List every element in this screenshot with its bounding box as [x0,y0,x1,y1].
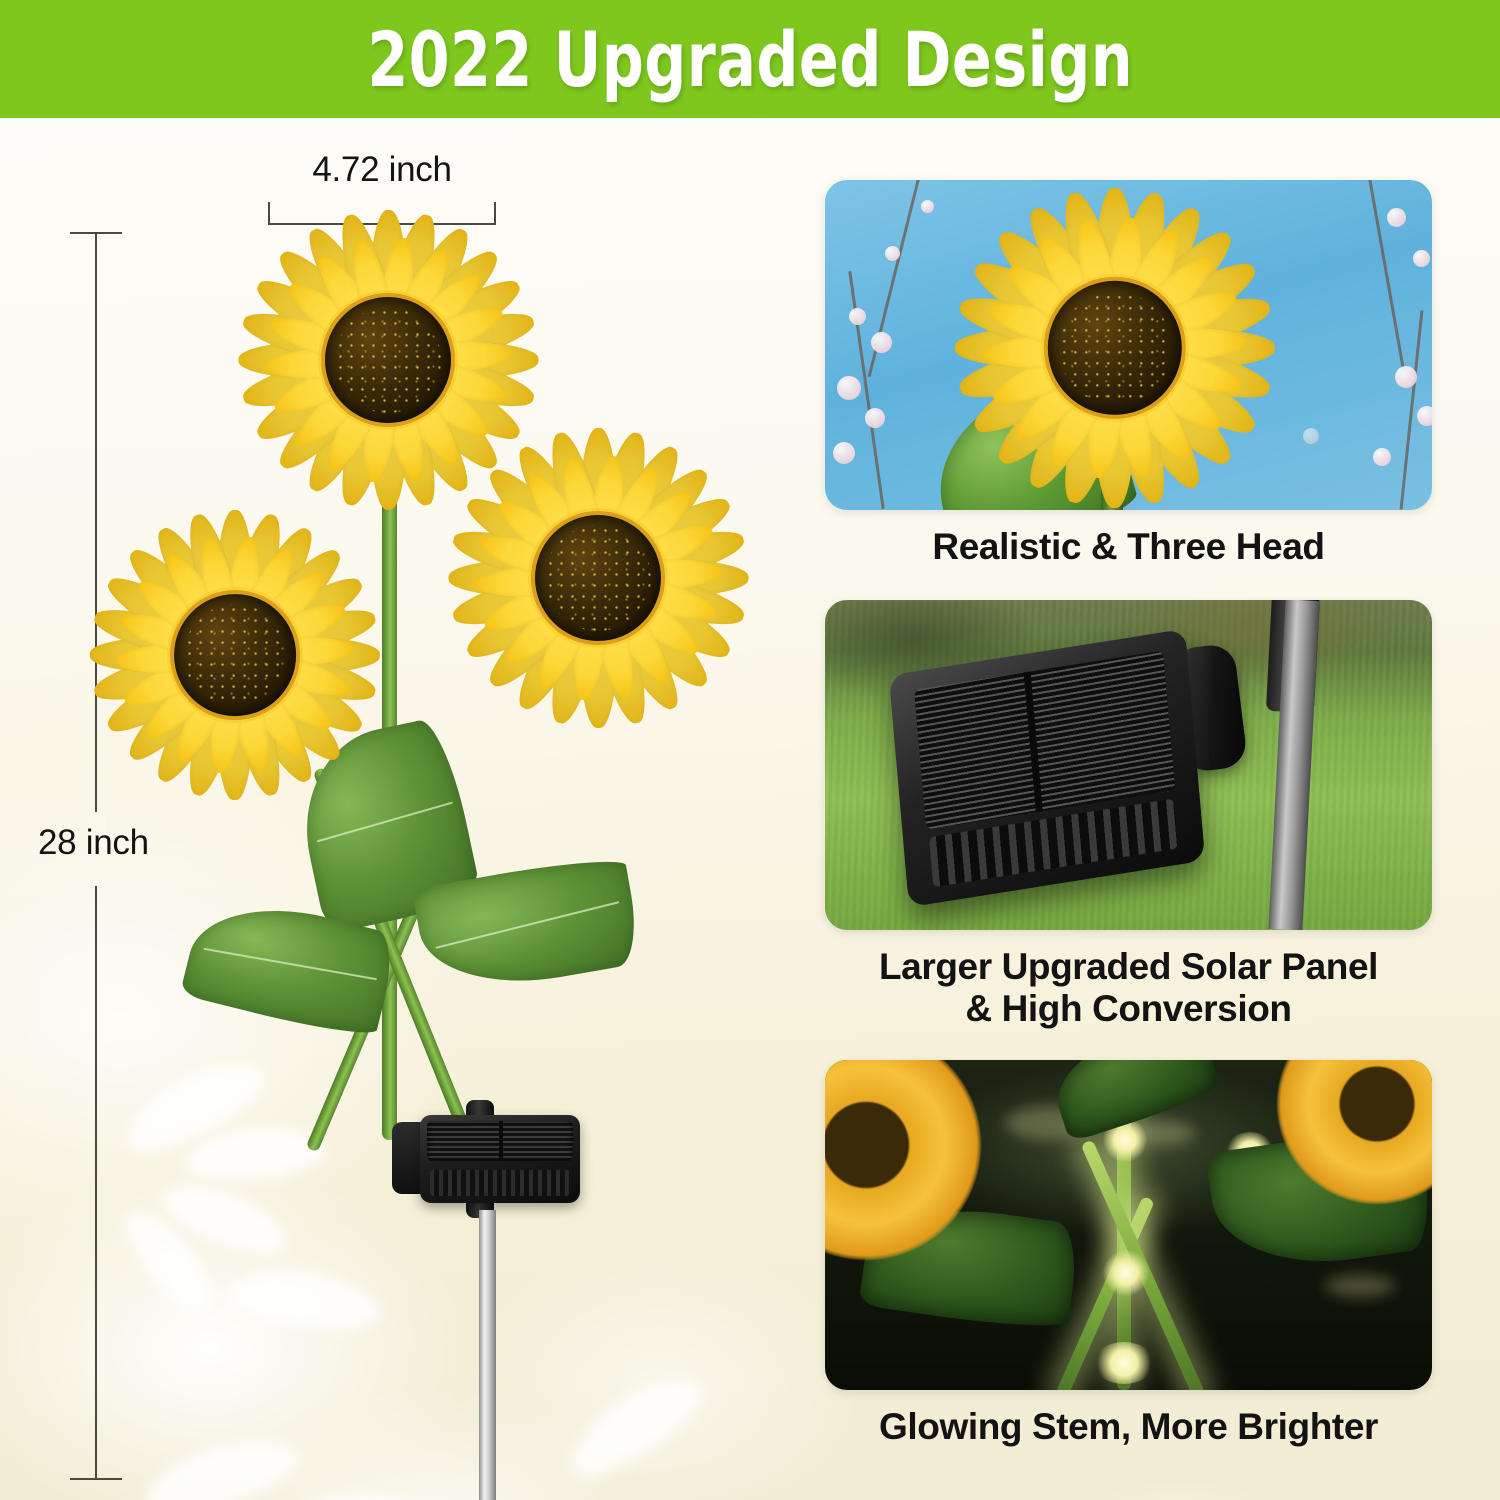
sunflower-left [90,510,380,800]
glowing-stem-photo [825,1060,1432,1390]
header-banner: 2022 Upgraded Design [0,0,1500,118]
feature-panel-3: Glowing Stem, More Brighter [825,1060,1432,1448]
feature-caption-2: Larger Upgraded Solar Panel & High Conve… [825,946,1432,1030]
sunflower-core [535,515,661,641]
feature-panel-1: Realistic & Three Head [825,180,1432,568]
photo-solar-cells [914,650,1175,829]
feature-caption-1: Realistic & Three Head [825,526,1432,568]
caption-line: Realistic & Three Head [825,526,1432,568]
solar-vents [430,1170,570,1196]
width-dimension-label: 4.72 inch [268,150,496,190]
metal-stake [479,1210,496,1500]
solar-panel-box [420,1115,580,1203]
caption-line: Larger Upgraded Solar Panel [825,946,1432,988]
photo-solar-panel [889,629,1206,908]
sunflower-core [1048,281,1182,415]
sunflower-core [174,594,296,716]
product-illustration [90,210,780,1500]
solar-panel-photo [825,600,1432,930]
solar-cells [427,1121,573,1161]
caption-line: Glowing Stem, More Brighter [825,1406,1432,1448]
infographic-canvas: 2022 Upgraded Design 4.72 inch 28 inch [0,0,1500,1500]
sunflower-right [448,428,748,728]
feature-caption-3: Glowing Stem, More Brighter [825,1406,1432,1448]
banner-title: 2022 Upgraded Design [367,15,1133,104]
caption-line: & High Conversion [825,988,1432,1030]
sunflower-closeup-photo [825,180,1432,510]
feature-panel-2: Larger Upgraded Solar Panel & High Conve… [825,600,1432,1030]
sunflower-core [325,297,451,423]
photo-sunflower [955,188,1275,508]
